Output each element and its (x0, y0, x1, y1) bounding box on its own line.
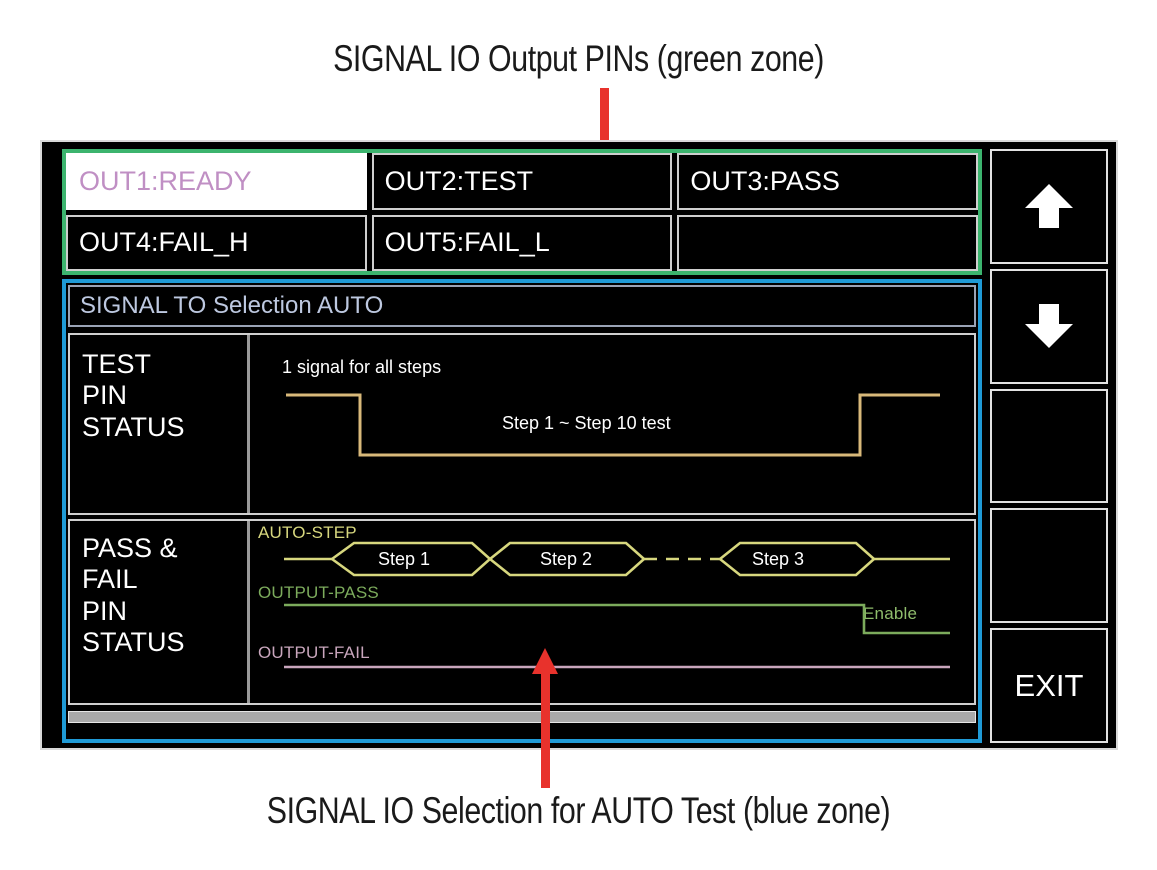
top-caption: SIGNAL IO Output PINs (green zone) (104, 38, 1053, 80)
pass-fail-waveform-svg (250, 521, 970, 703)
pass-fail-pin-status-label: PASS & FAIL PIN STATUS (70, 521, 250, 703)
arrow-up-icon (1021, 178, 1077, 234)
test-pin-waveform-area: 1 signal for all steps Step 1 ~ Step 10 … (250, 335, 974, 513)
output-pin-button-empty[interactable] (677, 215, 978, 272)
scroll-up-button[interactable] (990, 149, 1108, 264)
output-pin-button-out5[interactable]: OUT5:FAIL_L (372, 215, 673, 272)
label-line: PIN (82, 380, 247, 411)
output-pin-button-out1[interactable]: OUT1:READY (66, 153, 367, 210)
label-line: STATUS (82, 627, 247, 658)
selection-header-bar[interactable]: SIGNAL TO Selection AUTO (68, 285, 976, 327)
arrow-up-annotation-icon (532, 648, 558, 788)
test-pin-waveform-svg (250, 335, 970, 513)
pass-fail-waveform-area: AUTO-STEP OUTPUT-PASS OUTPUT-FAIL Step 1… (250, 521, 974, 703)
output-pin-label: OUT5:FAIL_L (385, 227, 550, 258)
side-button-4[interactable] (990, 508, 1108, 623)
output-pin-label: OUT2:TEST (385, 166, 534, 197)
horizontal-scrollbar[interactable] (68, 711, 976, 723)
arrow-down-icon (1021, 298, 1077, 354)
label-line: STATUS (82, 412, 247, 443)
output-pin-label: OUT1:READY (79, 166, 252, 197)
output-pin-label: OUT3:PASS (690, 166, 840, 197)
exit-button[interactable]: EXIT (990, 628, 1108, 743)
side-button-3[interactable] (990, 389, 1108, 504)
side-button-column: EXIT (990, 149, 1108, 743)
pass-fail-pin-status-panel[interactable]: PASS & FAIL PIN STATUS AUTO-STEP OUTPUT-… (68, 519, 976, 705)
output-pin-button-out2[interactable]: OUT2:TEST (372, 153, 673, 210)
arrow-head (532, 648, 558, 674)
arrow-shaft (541, 674, 550, 788)
scroll-down-button[interactable] (990, 269, 1108, 384)
label-line: TEST (82, 349, 247, 380)
test-pin-status-panel[interactable]: TEST PIN STATUS 1 signal for all steps S… (68, 333, 976, 515)
label-line: FAIL (82, 564, 247, 595)
label-line: PIN (82, 596, 247, 627)
output-pin-button-out3[interactable]: OUT3:PASS (677, 153, 978, 210)
bottom-caption: SIGNAL IO Selection for AUTO Test (blue … (104, 790, 1053, 832)
label-line: PASS & (82, 533, 247, 564)
test-pin-status-label: TEST PIN STATUS (70, 335, 250, 513)
side-button-label: EXIT (1015, 668, 1084, 704)
output-pin-grid: OUT1:READY OUT2:TEST OUT3:PASS OUT4:FAIL… (66, 153, 978, 271)
device-screen: OUT1:READY OUT2:TEST OUT3:PASS OUT4:FAIL… (40, 140, 1118, 750)
device-screen-inner: OUT1:READY OUT2:TEST OUT3:PASS OUT4:FAIL… (46, 145, 1114, 747)
selection-header-label: SIGNAL TO Selection AUTO (80, 292, 383, 320)
output-pin-button-out4[interactable]: OUT4:FAIL_H (66, 215, 367, 272)
output-pin-label: OUT4:FAIL_H (79, 227, 249, 258)
